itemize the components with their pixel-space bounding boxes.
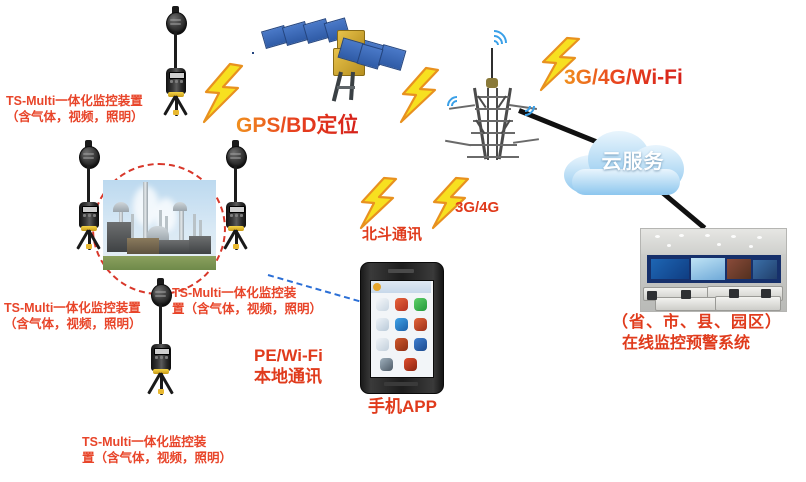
platform-label-line2: 在线监控预警系统	[622, 334, 750, 355]
gps-link-label: GPS/BD定位	[236, 112, 359, 139]
device-label-top-left: TS-Multi一体化监控装置 （含气体，视频，照明）	[6, 93, 186, 126]
lightning-bolt-icon	[396, 66, 442, 124]
refinery-photo	[103, 180, 216, 270]
cell-tower-icon	[443, 22, 543, 162]
lightning-bolt-icon	[356, 176, 398, 230]
local-comm-label: PE/Wi-Fi 本地通讯	[254, 345, 323, 388]
device-label-bottom: TS-Multi一体化监控装 置（含气体，视频，照明）	[82, 434, 252, 467]
cloud-label: 云服务	[588, 145, 678, 174]
device-label-mid-left: TS-Multi一体化监控装置 （含气体，视频，照明）	[4, 300, 184, 333]
rugged-phone-icon	[360, 262, 442, 392]
control-room-photo	[640, 228, 787, 312]
device-label-mid-right: TS-Multi一体化监控装 置（含气体，视频，照明）	[172, 285, 342, 318]
satellite-right-array	[340, 38, 392, 78]
tripod-monitor-icon	[205, 140, 265, 252]
phone-app-label: 手机APP	[368, 396, 437, 418]
platform-label-line1: （省、市、县、园区）	[612, 313, 782, 334]
diagram-canvas: 云服务	[0, 0, 806, 482]
mobile-wifi-link-label: 3G/4G/Wi-Fi	[564, 64, 683, 91]
mobile-link-label: 3G/4G	[455, 198, 499, 218]
beidou-link-label: 北斗通讯	[362, 225, 422, 245]
tripod-monitor-icon	[58, 140, 118, 252]
